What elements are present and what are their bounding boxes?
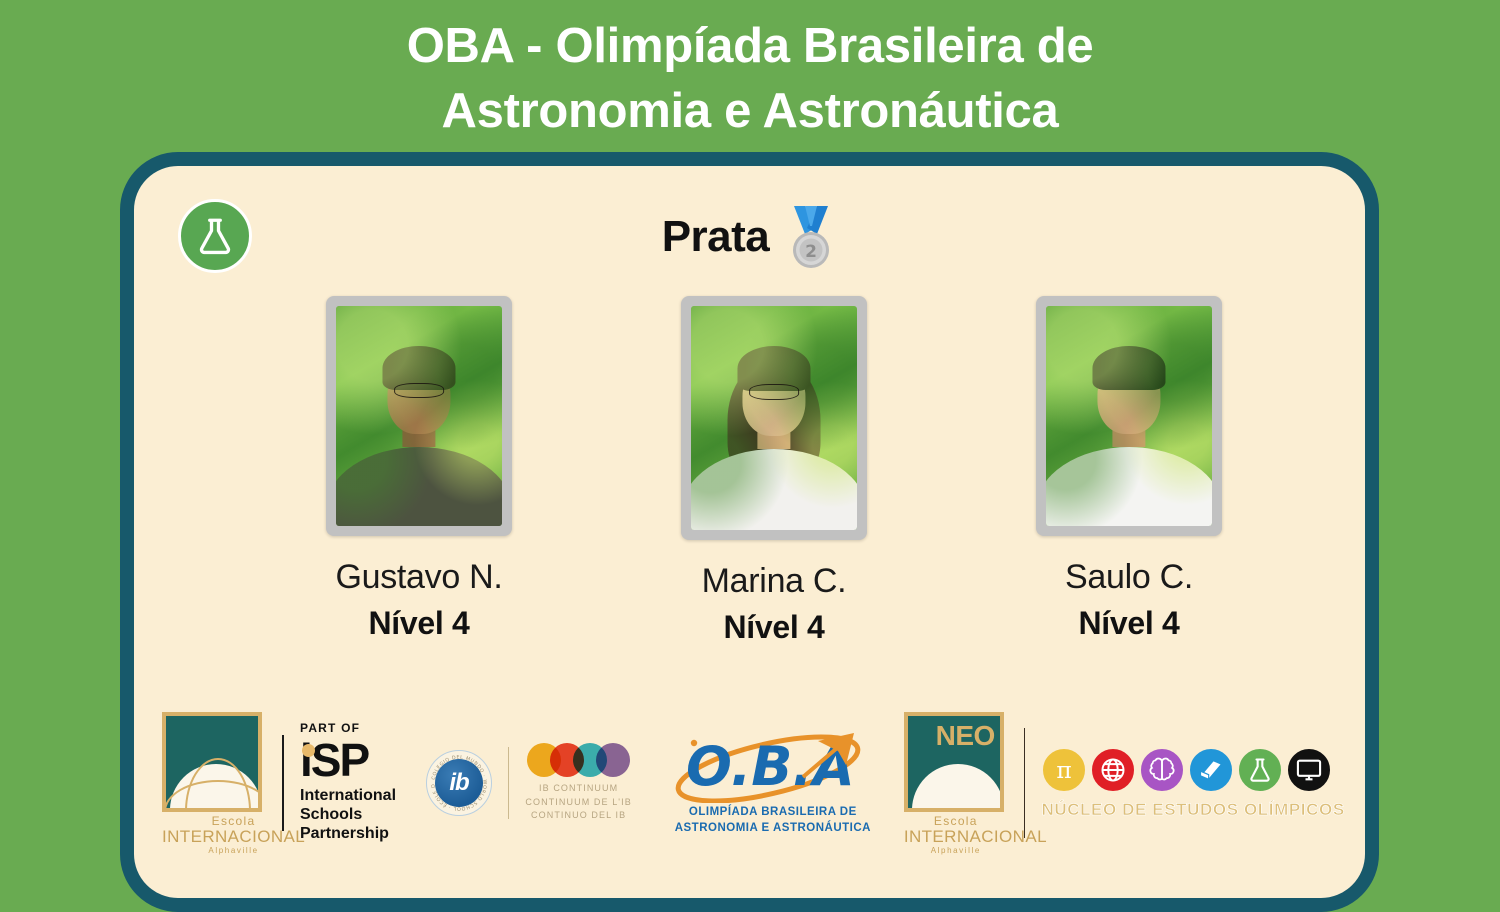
escola-line-3: Alphaville: [162, 847, 305, 855]
pi-icon-circle: π: [1041, 747, 1087, 793]
student-photo-frame: [681, 296, 867, 540]
students-list: Gustavo N. Nível 4 Marina C. Nível: [314, 296, 1234, 646]
flask-icon-circle: [1237, 747, 1283, 793]
continuum-line-3: CONTINUO DEL IB: [525, 809, 631, 823]
neo-globe-mark: NEO: [904, 712, 1004, 812]
divider: [1024, 728, 1026, 838]
book-icon: [1197, 756, 1225, 784]
monitor-icon-circle: [1286, 747, 1332, 793]
neo-line-3: Alphaville: [904, 847, 1008, 855]
page-title-line-2: Astronomia e Astronáutica: [0, 79, 1500, 144]
isp-sub-line-3: Partnership: [300, 825, 396, 844]
neo-escola-logo: NEO Escola INTERNACIONAL Alphaville: [904, 712, 1008, 855]
footer-logos: Escola INTERNACIONAL Alphaville PART OF …: [162, 708, 1352, 858]
oba-mark: O.B.A: [668, 729, 878, 803]
student-level: Nível 4: [669, 609, 879, 646]
student-name: Gustavo N.: [314, 558, 524, 597]
continuum-line-2: CONTINUUM DE L'IB: [525, 796, 631, 810]
student-level: Nível 4: [314, 605, 524, 642]
continuum-circles: [525, 743, 631, 777]
page-title-line-1: OBA - Olimpíada Brasileira de: [0, 14, 1500, 79]
student-level: Nível 4: [1024, 605, 1234, 642]
glasses-icon: [749, 384, 799, 400]
ib-world-school-seal: COLEGIO DEL MUNDO · WORLD SCHOOL · ÉCOLE…: [426, 750, 492, 816]
isp-sub-line-1: International: [300, 787, 396, 806]
ib-continuum-logo: IB CONTINUUM CONTINUUM DE L'IB CONTINUO …: [525, 743, 631, 823]
monitor-icon: [1295, 756, 1323, 784]
flask-icon: [1246, 756, 1274, 784]
brain-icon: [1148, 756, 1176, 784]
student-card: Marina C. Nível 4: [669, 296, 879, 646]
globe-icon-circle: [1090, 747, 1136, 793]
student-photo: [691, 306, 857, 530]
divider: [282, 735, 284, 831]
book-icon-circle: [1188, 747, 1234, 793]
oba-logo: O.B.A OLIMPÍADA BRASILEIRA DE ASTRONOMIA…: [668, 729, 878, 836]
isp-sub-line-2: Schools: [300, 806, 396, 825]
isp-logo: PART OF iSP International Schools Partne…: [300, 722, 396, 844]
escola-globe-mark: [162, 712, 262, 812]
student-photo: [1046, 306, 1212, 526]
brain-icon-circle: [1139, 747, 1185, 793]
neo-line-1: Escola: [904, 815, 1008, 827]
globe-icon: [1099, 756, 1127, 784]
svg-text:π: π: [1057, 756, 1072, 784]
student-name: Saulo C.: [1024, 558, 1234, 597]
silver-medal-icon: 2: [785, 204, 837, 270]
ib-ring-text: COLEGIO DEL MUNDO · WORLD SCHOOL · ÉCOLE…: [429, 753, 489, 813]
divider: [508, 747, 509, 819]
continuum-line-1: IB CONTINUUM: [525, 782, 631, 796]
page-title: OBA - Olimpíada Brasileira de Astronomia…: [0, 14, 1500, 144]
student-card: Saulo C. Nível 4: [1024, 296, 1234, 642]
student-photo-frame: [326, 296, 512, 536]
nucleo-estudos-olimpicos: π: [1041, 747, 1344, 820]
award-label: Prata: [662, 212, 770, 262]
isp-part-of: PART OF: [300, 722, 396, 734]
student-photo-frame: [1036, 296, 1222, 536]
escola-internacional-logo: Escola INTERNACIONAL Alphaville: [162, 712, 266, 855]
isp-acronym: iSP: [300, 737, 368, 783]
oba-sub-line-1: OLIMPÍADA BRASILEIRA DE: [668, 805, 878, 821]
student-photo: [336, 306, 502, 526]
neo-line-2: INTERNACIONAL: [904, 828, 1008, 845]
award-card: Prata 2: [120, 152, 1379, 912]
nucleo-label: NÚCLEO DE ESTUDOS OLÍMPICOS: [1041, 800, 1344, 820]
svg-text:COLEGIO DEL MUNDO · WORLD SCHO: COLEGIO DEL MUNDO · WORLD SCHOOL · ÉCOLE…: [429, 753, 487, 811]
oba-sub-line-2: ASTRONOMIA E ASTRONÁUTICA: [668, 821, 878, 837]
student-card: Gustavo N. Nível 4: [314, 296, 524, 642]
svg-text:2: 2: [805, 242, 817, 262]
student-name: Marina C.: [669, 562, 879, 601]
award-heading: Prata 2: [134, 204, 1365, 270]
neo-word: NEO: [936, 720, 995, 752]
glasses-icon: [394, 383, 444, 398]
pi-icon: π: [1050, 756, 1078, 784]
